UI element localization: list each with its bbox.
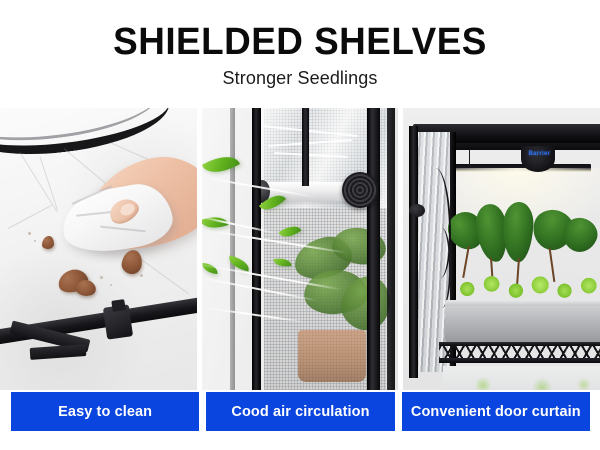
panel-image-easy-to-clean: [0, 108, 197, 390]
page-subtitle: Stronger Seedlings: [0, 66, 600, 90]
wire-shelf-rail: [439, 342, 600, 346]
soil-crumb: [28, 232, 31, 235]
tent-frame-post: [409, 126, 418, 378]
fabric-crease: [40, 156, 58, 210]
strap-buckle-nub: [111, 299, 125, 312]
soil-crumb: [100, 276, 103, 279]
page-title: SHIELDED SHELVES: [9, 22, 591, 62]
fabric-crease: [8, 205, 53, 229]
caption-air-circulation: Cood air circulation: [206, 392, 394, 431]
soil-crumb: [110, 284, 112, 286]
soil-crumb: [34, 240, 36, 242]
header: SHIELDED SHELVES Stronger Seedlings: [0, 0, 600, 90]
light-hanger-wire: [469, 150, 470, 166]
wire-shelf-rail: [439, 358, 600, 363]
grow-tray-lip: [445, 300, 600, 306]
caption-bar-row: Easy to clean Cood air circulation Conve…: [11, 392, 590, 431]
caption-door-curtain: Convenient door curtain: [402, 392, 590, 431]
brand-logo-text: Barrier: [524, 151, 554, 157]
feature-panel-strip: Barrier: [0, 108, 600, 390]
soil-clump: [120, 249, 143, 276]
tent-pole: [302, 108, 309, 186]
tent-strap: [30, 344, 87, 360]
fabric-crease: [20, 152, 58, 212]
panel-image-door-curtain: Barrier: [403, 108, 600, 390]
panel-image-air-circulation: [202, 108, 399, 390]
tent-pole: [367, 108, 380, 390]
soil-clump: [42, 236, 54, 249]
fabric-crease: [140, 258, 189, 294]
tent-pole: [387, 108, 395, 390]
tent-pole: [252, 108, 261, 390]
caption-easy-to-clean: Easy to clean: [11, 392, 199, 431]
tent-pole: [230, 108, 235, 390]
lower-shelf-plants: [443, 366, 600, 390]
grow-tray: [445, 302, 600, 344]
soil-crumb: [140, 274, 143, 277]
terracotta-pot-icon: [298, 330, 366, 382]
